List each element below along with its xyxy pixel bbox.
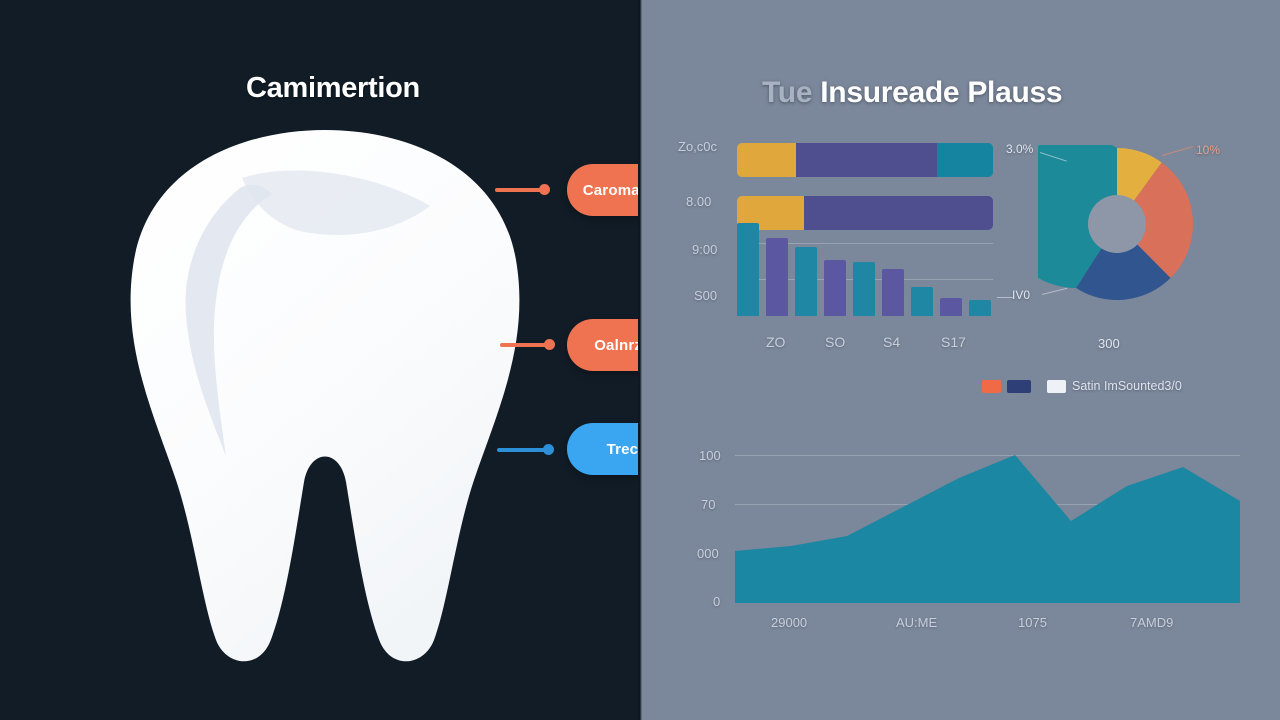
page-title-left: Camimertion <box>246 72 420 105</box>
bar-8 <box>940 298 962 316</box>
area-xtick-3: 7AMD9 <box>1130 615 1173 630</box>
bar-1 <box>737 223 759 316</box>
donut-chart <box>1038 145 1196 303</box>
bar-3 <box>795 247 817 316</box>
bar-5 <box>853 262 875 316</box>
bar-7 <box>911 287 933 316</box>
area-xtick-1: AU:ME <box>896 615 937 630</box>
tooth-illustration <box>90 110 560 670</box>
area-chart-svg <box>735 430 1240 603</box>
callout-dot-3 <box>543 444 554 455</box>
infographic-canvas: Camimertion Caromatfoz <box>0 0 1280 720</box>
bar-4 <box>824 260 846 316</box>
left-panel: Camimertion Caromatfoz <box>0 0 640 720</box>
area-ytick-1: 70 <box>701 497 715 512</box>
area-ytick-0: 100 <box>699 448 721 463</box>
donut-annotation-bottom: 300 <box>1098 336 1120 351</box>
hbar-ytick-0: Zo,c0c <box>678 139 717 154</box>
callout-dot-2 <box>544 339 555 350</box>
vbar-xtick-0: ZO <box>766 334 785 350</box>
legend-swatch-navy <box>1007 380 1031 393</box>
area-ytick-2: 000 <box>697 546 719 561</box>
callout-leader-2 <box>500 343 548 347</box>
panel-divider <box>638 0 642 720</box>
bar-2 <box>766 238 788 316</box>
stacked-segment-yellow <box>737 143 796 177</box>
bar-6 <box>882 269 904 316</box>
hbar-ytick-1: 8.00 <box>686 194 711 209</box>
vbar-xtick-2: S4 <box>883 334 900 350</box>
page-title-right: Tue Insureade Plauss <box>762 76 1062 110</box>
donut-svg <box>1038 145 1196 303</box>
stacked-segment-purple <box>796 143 937 177</box>
area-xtick-0: 29000 <box>771 615 807 630</box>
donut-annotation-top-left: 3.0% <box>1006 142 1033 156</box>
bar-9 <box>969 300 991 316</box>
area-ytick-3: 0 <box>713 594 720 609</box>
vbar-ytick-0: 9:00 <box>692 242 717 257</box>
donut-hole <box>1088 195 1146 253</box>
legend-label: Satin ImSounted3/0 <box>1072 379 1182 393</box>
stacked-segment-teal <box>937 143 993 177</box>
legend-swatch-white <box>1047 380 1066 393</box>
vertical-bar-chart <box>737 218 993 316</box>
vbar-ytick-1: S00 <box>694 288 717 303</box>
donut-annotation-top-right: 10% <box>1196 143 1220 157</box>
area-xtick-2: 1075 <box>1018 615 1047 630</box>
donut-leader-left <box>997 297 1013 298</box>
legend-swatch-orange <box>982 380 1001 393</box>
area-chart <box>735 430 1240 603</box>
vbar-xtick-1: SO <box>825 334 845 350</box>
callout-dot-1 <box>539 184 550 195</box>
stacked-bar-row-1 <box>737 143 993 177</box>
page-title-right-dim: Tue <box>762 76 812 109</box>
donut-legend: Satin ImSounted3/0 <box>982 379 1182 393</box>
vbar-xtick-3: S17 <box>941 334 966 350</box>
area-series-polygon <box>735 455 1240 603</box>
callout-leader-1 <box>495 188 543 192</box>
callout-leader-3 <box>497 448 547 452</box>
donut-annotation-left: IV0 <box>1012 288 1030 302</box>
page-title-right-bright: Insureade Plauss <box>820 76 1062 109</box>
